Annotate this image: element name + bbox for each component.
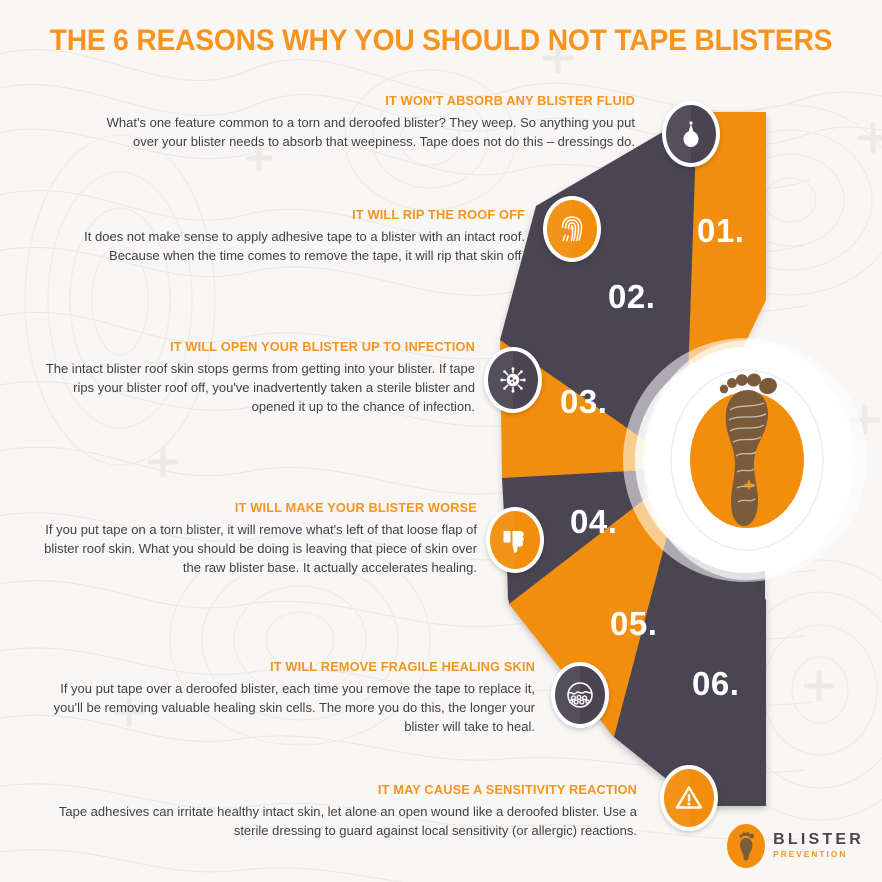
reason-body-01: What's one feature common to a torn and …: [95, 113, 635, 151]
reason-block-05: IT WILL REMOVE FRAGILE HEALING SKIN If y…: [30, 659, 535, 736]
reason-badge-06[interactable]: [660, 765, 718, 831]
germ-icon: [500, 367, 526, 393]
reason-body-04: If you put tape on a torn blister, it wi…: [32, 520, 477, 577]
badge-fill-03: [488, 351, 538, 409]
badge-fill-06: [664, 769, 714, 827]
reason-block-04: IT WILL MAKE YOUR BLISTER WORSE If you p…: [32, 500, 477, 577]
reason-heading-01: IT WON'T ABSORB ANY BLISTER FLUID: [111, 93, 635, 108]
brand-logo[interactable]: BLISTER PREVENTION: [727, 824, 864, 868]
reason-block-01: IT WON'T ABSORB ANY BLISTER FLUID What's…: [95, 93, 635, 151]
page-title: THE 6 REASONS WHY YOU SHOULD NOT TAPE BL…: [26, 24, 855, 58]
reason-body-06: Tape adhesives can irritate healthy inta…: [42, 802, 637, 840]
reason-block-03: IT WILL OPEN YOUR BLISTER UP TO INFECTIO…: [30, 339, 475, 416]
reason-badge-03[interactable]: [484, 347, 542, 413]
badge-fill-02: [547, 200, 597, 258]
wedge-number-04: 04.: [570, 503, 617, 541]
thumbs-down-icon: [502, 527, 528, 553]
wedge-number-05: 05.: [610, 605, 657, 643]
wedge-number-03: 03.: [560, 383, 607, 421]
reason-body-05: If you put tape over a deroofed blister,…: [30, 679, 535, 736]
wedge-number-02: 02.: [608, 278, 655, 316]
skin-cells-icon: [565, 680, 595, 710]
infographic-canvas: THE 6 REASONS WHY YOU SHOULD NOT TAPE BL…: [0, 0, 882, 882]
reason-badge-01[interactable]: [662, 101, 720, 167]
reason-badge-05[interactable]: [551, 662, 609, 728]
badge-fill-05: [555, 666, 605, 724]
reason-badge-02[interactable]: [543, 196, 601, 262]
logo-name: BLISTER: [773, 832, 864, 848]
warning-triangle-icon: [675, 785, 703, 811]
wedge-number-01: 01.: [697, 212, 744, 250]
badge-fill-04: [490, 511, 540, 569]
reason-body-02: It does not make sense to apply adhesive…: [70, 227, 525, 265]
reason-block-06: IT MAY CAUSE A SENSITIVITY REACTION Tape…: [42, 782, 637, 840]
logo-wordmark: BLISTER PREVENTION: [773, 832, 864, 859]
logo-tagline: PREVENTION: [773, 851, 864, 859]
footprint-icon: [736, 831, 756, 861]
reason-badge-04[interactable]: [486, 507, 544, 573]
blister-droplet-icon: [680, 120, 702, 148]
reason-heading-02: IT WILL RIP THE ROOF OFF: [84, 207, 525, 222]
reason-heading-06: IT MAY CAUSE A SENSITIVITY REACTION: [60, 782, 637, 797]
reason-heading-04: IT WILL MAKE YOUR BLISTER WORSE: [45, 500, 477, 515]
reason-block-02: IT WILL RIP THE ROOF OFF It does not mak…: [70, 207, 525, 265]
reason-heading-03: IT WILL OPEN YOUR BLISTER UP TO INFECTIO…: [43, 339, 475, 354]
logo-mark: [727, 824, 765, 868]
fingerprint-icon: [560, 215, 584, 243]
reason-body-03: The intact blister roof skin stops germs…: [30, 359, 475, 416]
reason-heading-05: IT WILL REMOVE FRAGILE HEALING SKIN: [45, 659, 535, 674]
badge-fill-01: [666, 105, 716, 163]
center-foot-medallion: [640, 338, 855, 583]
wedge-number-06: 06.: [692, 665, 739, 703]
